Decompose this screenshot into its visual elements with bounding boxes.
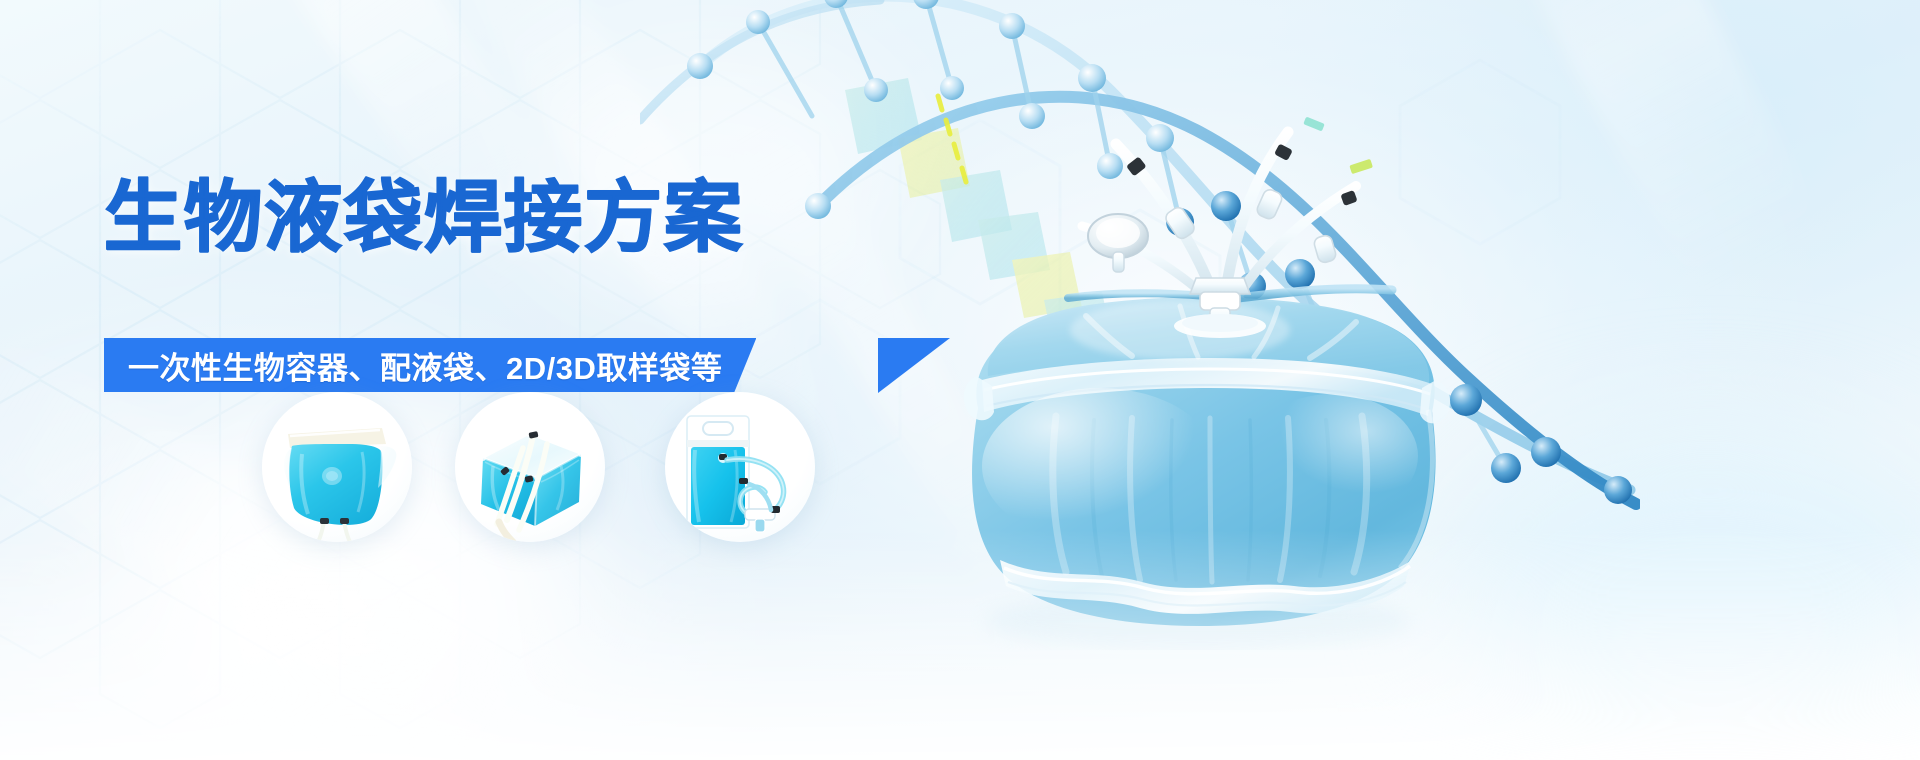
hero-copy-block: 生物液袋焊接方案 一次性生物容器、配液袋、2D/3D取样袋等: [0, 0, 900, 420]
tubing-manifold-assembly-icon: [1020, 40, 1440, 340]
liquid-bag-3d-image: [455, 392, 605, 542]
product-thumbnail-2[interactable]: [455, 392, 605, 542]
liquid-bag-2d-image: [262, 392, 412, 542]
page-title: 生物液袋焊接方案: [104, 178, 744, 256]
product-thumbnail-3[interactable]: [665, 392, 815, 542]
bar-accent-triangle-icon: [878, 338, 950, 393]
product-thumbnail-1[interactable]: [262, 392, 412, 542]
subtitle-text: 一次性生物容器、配液袋、2D/3D取样袋等: [128, 343, 722, 388]
subtitle-bar-wrapper: 一次性生物容器、配液袋、2D/3D取样袋等: [104, 338, 756, 392]
hero-banner: 生物液袋焊接方案 一次性生物容器、配液袋、2D/3D取样袋等: [0, 0, 1920, 760]
subtitle-bar: 一次性生物容器、配液袋、2D/3D取样袋等: [104, 338, 756, 392]
bottom-fade-overlay: [0, 530, 1920, 760]
sampling-bag-image: [665, 392, 815, 542]
